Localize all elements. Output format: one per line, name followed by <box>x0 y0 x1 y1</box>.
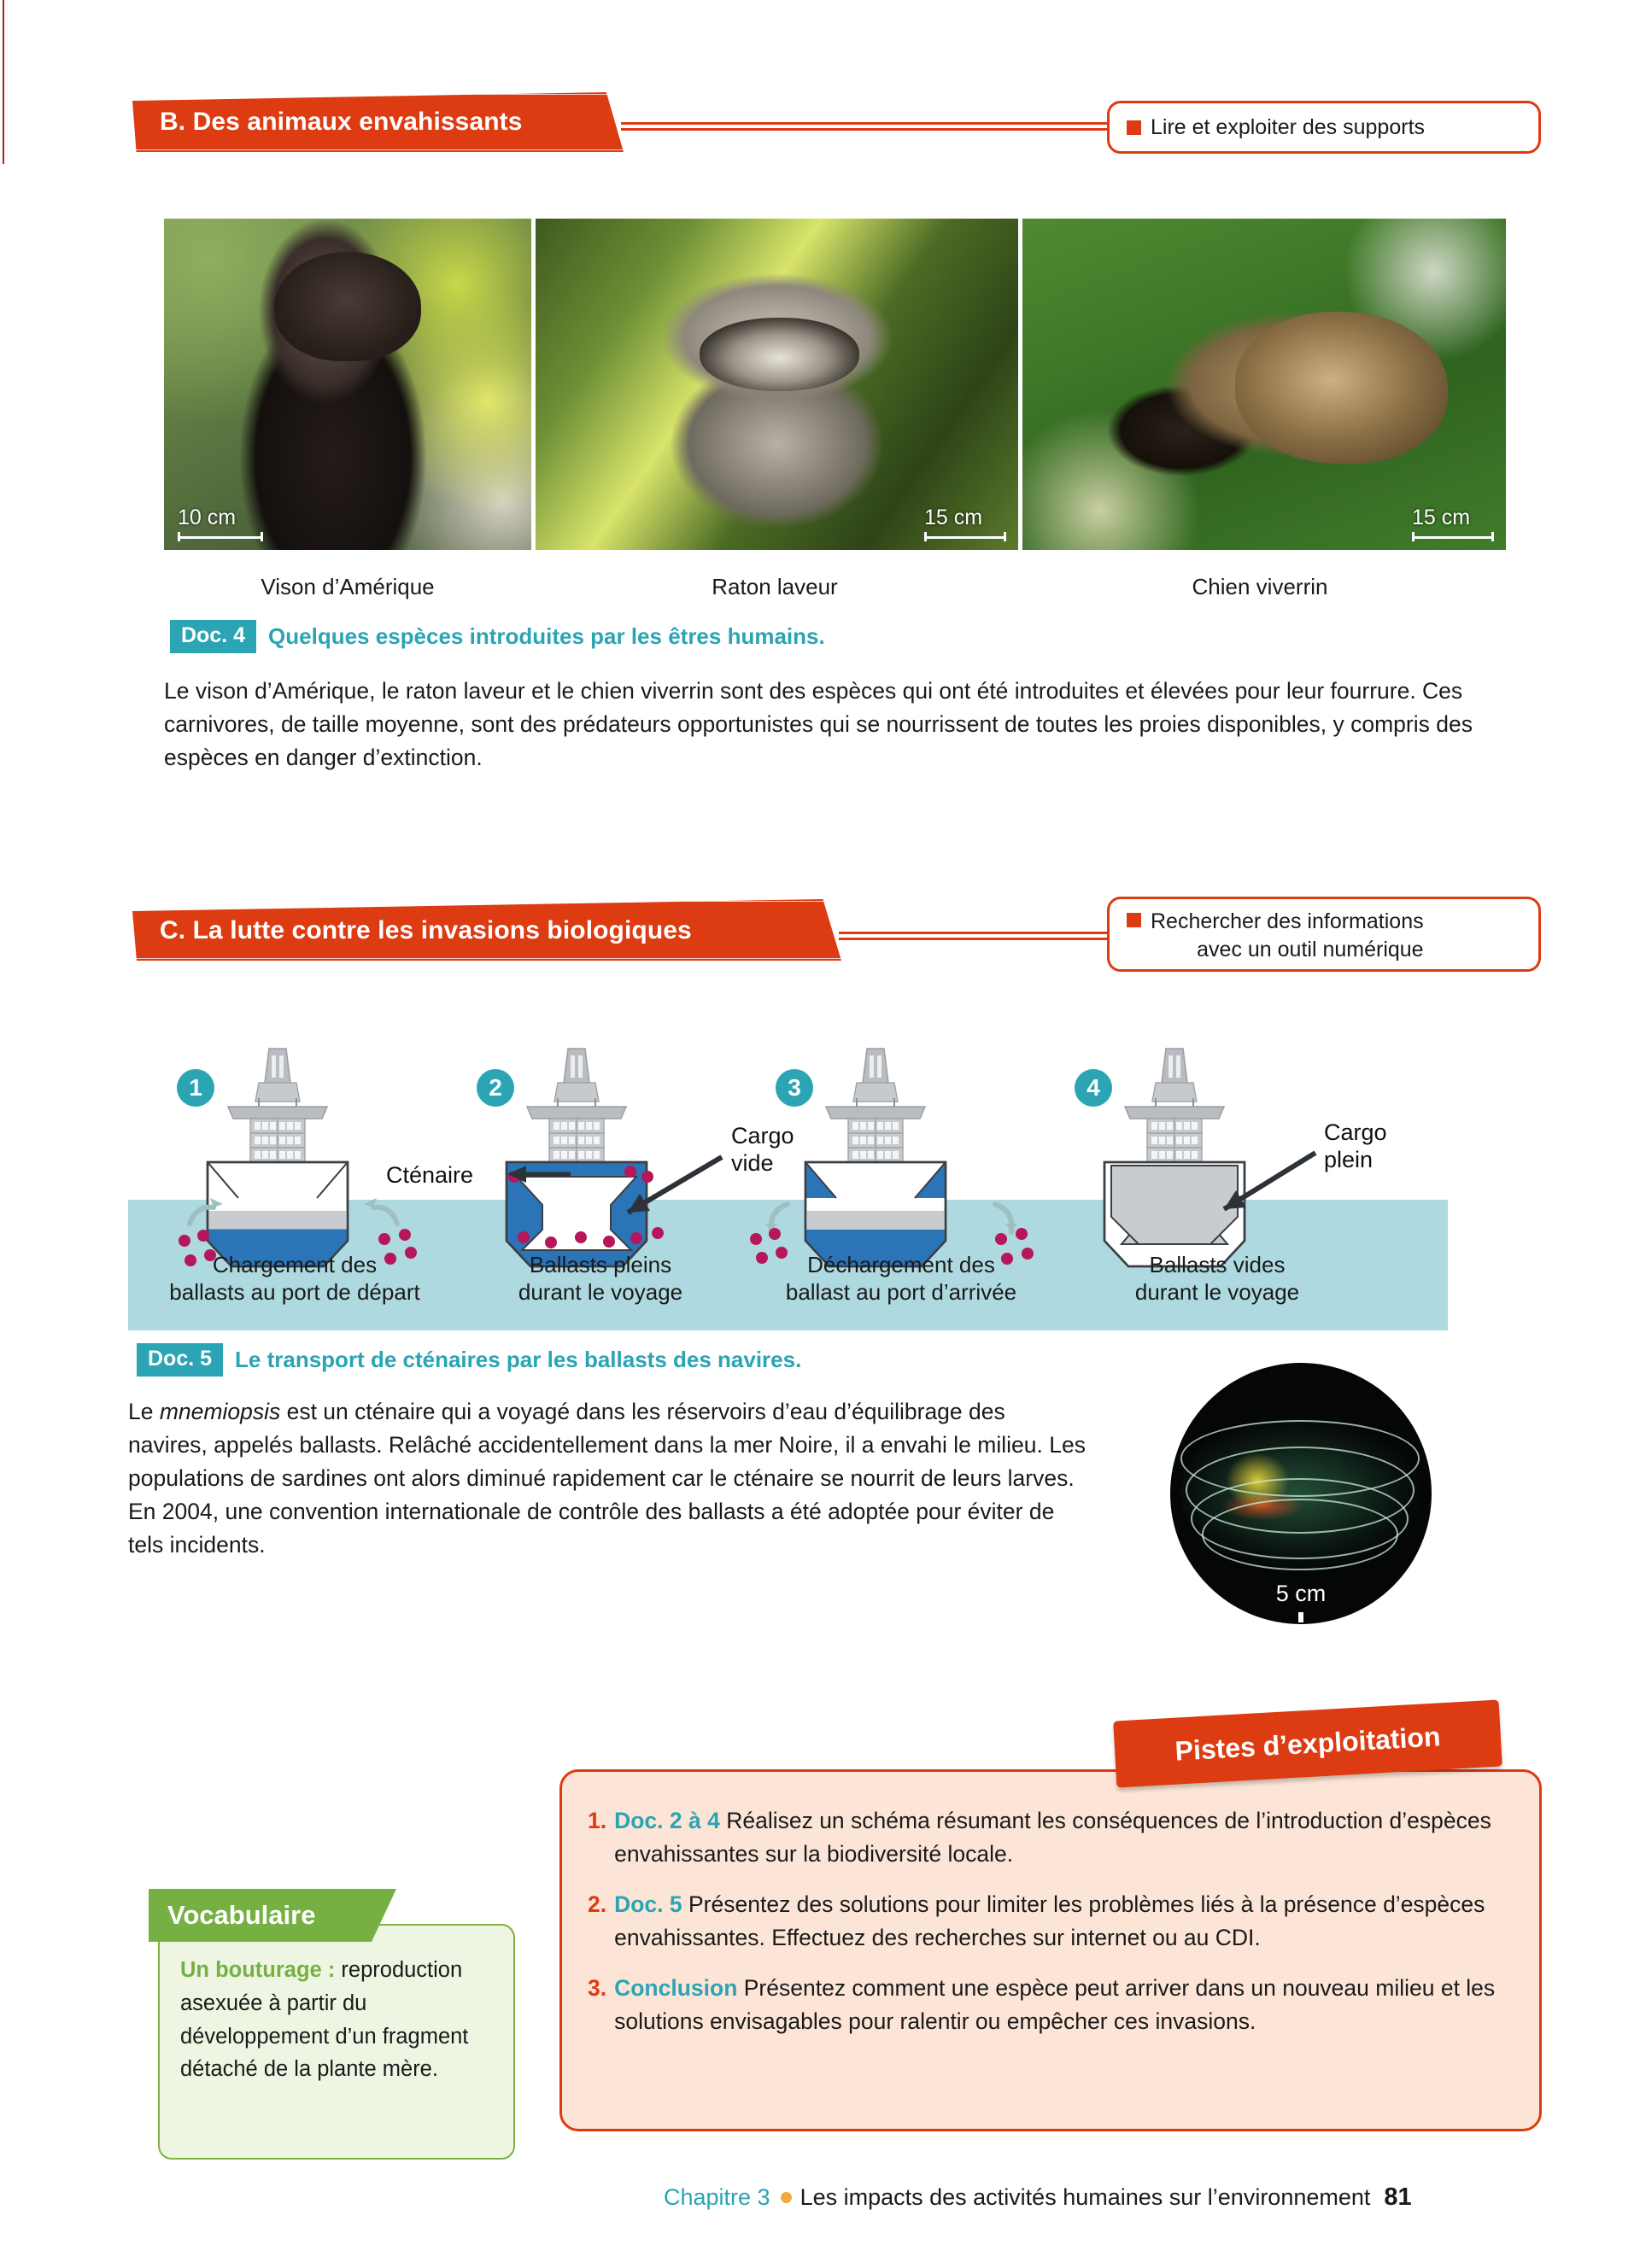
pistes-question-list: 1. Doc. 2 à 4 Réalisez un schéma résuman… <box>588 1804 1519 2055</box>
competency-c-line2: avec un outil numérique <box>1151 936 1424 964</box>
diagram-label-3: Déchargement des ballast au port d’arriv… <box>730 1251 1072 1306</box>
textbook-page: B. Des animaux envahissants Lire et expl… <box>0 0 1640 2268</box>
species-photo-row: 10 cm 15 cm 15 cm <box>164 219 1506 550</box>
scale-value-vison: 10 cm <box>178 507 263 529</box>
footer-chapter: Chapitre 3 <box>664 2184 770 2211</box>
competency-pill-c: Rechercher des informations avec un outi… <box>1107 897 1541 972</box>
section-b-title: B. Des animaux envahissants <box>160 108 523 137</box>
diagram-step-1: 1 <box>177 1069 214 1107</box>
question-3-number: 3. <box>588 1972 606 2038</box>
doc4-chip: Doc. 4 <box>170 620 256 653</box>
comb-row-4 <box>1202 1499 1398 1570</box>
doc5-text: Le mnemiopsis est un cténaire qui a voya… <box>128 1395 1089 1562</box>
doc5-chip: Doc. 5 <box>137 1343 223 1377</box>
ctenophore-scale-bar: 5 cm <box>1170 1581 1432 1612</box>
caption-vison: Vison d’Amérique <box>164 574 531 600</box>
footer-dot-icon <box>781 2192 792 2203</box>
section-c-title: C. La lutte contre les invasions biologi… <box>160 916 692 945</box>
section-b-connector <box>621 122 1108 131</box>
scale-bar-raton: 15 cm <box>924 507 1006 541</box>
question-3-ref: Conclusion <box>614 1975 737 2001</box>
cargo-vide-line2: vide <box>731 1149 794 1177</box>
caption-raton: Raton laveur <box>531 574 1018 600</box>
scale-value-viverrin: 15 cm <box>1412 507 1494 529</box>
bullet-square-icon <box>1127 913 1141 927</box>
caption-viverrin: Chien viverrin <box>1018 574 1502 600</box>
label-4-line2: durant le voyage <box>1059 1278 1375 1306</box>
label-3-line2: ballast au port d’arrivée <box>730 1278 1072 1306</box>
bullet-square-icon <box>1127 120 1141 135</box>
scale-bar-vison: 10 cm <box>178 507 263 541</box>
left-edge-rule <box>3 0 4 164</box>
vocabulaire-tab: Vocabulaire <box>149 1889 396 1942</box>
question-item-3: 3. Conclusion Présentez comment une espè… <box>588 1972 1519 2038</box>
label-2-line2: durant le voyage <box>451 1278 750 1306</box>
question-1-number: 1. <box>588 1804 606 1871</box>
question-2-text: Présentez des solutions pour limiter les… <box>614 1891 1485 1950</box>
diagram-label-2: Ballasts pleins durant le voyage <box>451 1251 750 1306</box>
label-2-line1: Ballasts pleins <box>451 1251 750 1278</box>
diagram-label-1: Chargement des ballasts au port de dépar… <box>128 1251 461 1306</box>
doc4-text: Le vison d’Amérique, le raton laveur et … <box>164 675 1493 775</box>
annotation-ctenaire: Cténaire <box>386 1161 473 1189</box>
footer-title: Les impacts des activités humaines sur l… <box>800 2184 1371 2211</box>
label-1-line1: Chargement des <box>128 1251 461 1278</box>
doc5-badge-row: Doc. 5 Le transport de cténaires par les… <box>137 1343 801 1377</box>
section-b-banner: B. Des animaux envahissants <box>132 92 624 152</box>
doc5-italic-term: mnemiopsis <box>160 1399 280 1424</box>
label-3-line1: Déchargement des <box>730 1251 1072 1278</box>
competency-b-text: Lire et exploiter des supports <box>1151 114 1425 142</box>
question-2-number: 2. <box>588 1888 606 1955</box>
question-item-2: 2. Doc. 5 Présentez des solutions pour l… <box>588 1888 1519 1955</box>
question-item-1: 1. Doc. 2 à 4 Réalisez un schéma résuman… <box>588 1804 1519 1871</box>
diagram-step-4: 4 <box>1075 1069 1112 1107</box>
chien-viverrin-photo: 15 cm <box>1022 219 1506 550</box>
doc5-text-before: Le <box>128 1399 160 1424</box>
vison-amerique-photo: 10 cm <box>164 219 531 550</box>
footer-page-number: 81 <box>1384 2183 1411 2212</box>
pistes-tab-label: Pistes d’exploitation <box>1174 1721 1442 1767</box>
competency-c-line1: Rechercher des informations <box>1151 908 1424 936</box>
pistes-exploitation-tab: Pistes d’exploitation <box>1115 1710 1501 1777</box>
vocabulaire-term: Un bouturage : <box>180 1958 335 1982</box>
vocabulaire-tab-label: Vocabulaire <box>149 1900 315 1931</box>
ctenophore-scale-value: 5 cm <box>1170 1581 1432 1607</box>
species-caption-row: Vison d’Amérique Raton laveur Chien vive… <box>164 574 1502 600</box>
question-3-text: Présentez comment une espèce peut arrive… <box>614 1975 1495 2034</box>
label-1-line2: ballasts au port de départ <box>128 1278 461 1306</box>
section-c-banner: C. La lutte contre les invasions biologi… <box>132 899 841 961</box>
question-2-ref: Doc. 5 <box>614 1891 682 1917</box>
ctenophore-photo: 5 cm <box>1170 1363 1432 1624</box>
doc4-badge-row: Doc. 4 Quelques espèces introduites par … <box>170 620 825 653</box>
question-1-text: Réalisez un schéma résumant les conséque… <box>614 1808 1491 1867</box>
diagram-label-4: Ballasts vides durant le voyage <box>1059 1251 1375 1306</box>
diagram-step-3: 3 <box>776 1069 813 1107</box>
page-footer: Chapitre 3 Les impacts des activités hum… <box>664 2183 1412 2212</box>
annotation-cargo-plein: Cargo plein <box>1324 1119 1387 1174</box>
scale-value-raton: 15 cm <box>924 507 1006 529</box>
scale-bar-viverrin: 15 cm <box>1412 507 1494 541</box>
label-4-line1: Ballasts vides <box>1059 1251 1375 1278</box>
doc5-caption: Le transport de cténaires par les ballas… <box>235 1347 801 1373</box>
vocabulaire-definition: Un bouturage : reproduction asexuée à pa… <box>180 1954 495 2086</box>
annotation-cargo-vide: Cargo vide <box>731 1122 794 1178</box>
doc4-caption: Quelques espèces introduites par les êtr… <box>268 623 825 650</box>
cargo-plein-line2: plein <box>1324 1146 1387 1173</box>
raton-laveur-photo: 15 cm <box>536 219 1018 550</box>
question-1-ref: Doc. 2 à 4 <box>614 1808 720 1833</box>
section-c-connector <box>839 932 1112 940</box>
cargo-vide-line1: Cargo <box>731 1122 794 1149</box>
ballast-diagram: 1 2 3 4 Cténaire Cargo vide Cargo plein … <box>128 1042 1448 1330</box>
cargo-plein-line1: Cargo <box>1324 1119 1387 1146</box>
diagram-step-2: 2 <box>477 1069 514 1107</box>
competency-pill-b: Lire et exploiter des supports <box>1107 101 1541 154</box>
